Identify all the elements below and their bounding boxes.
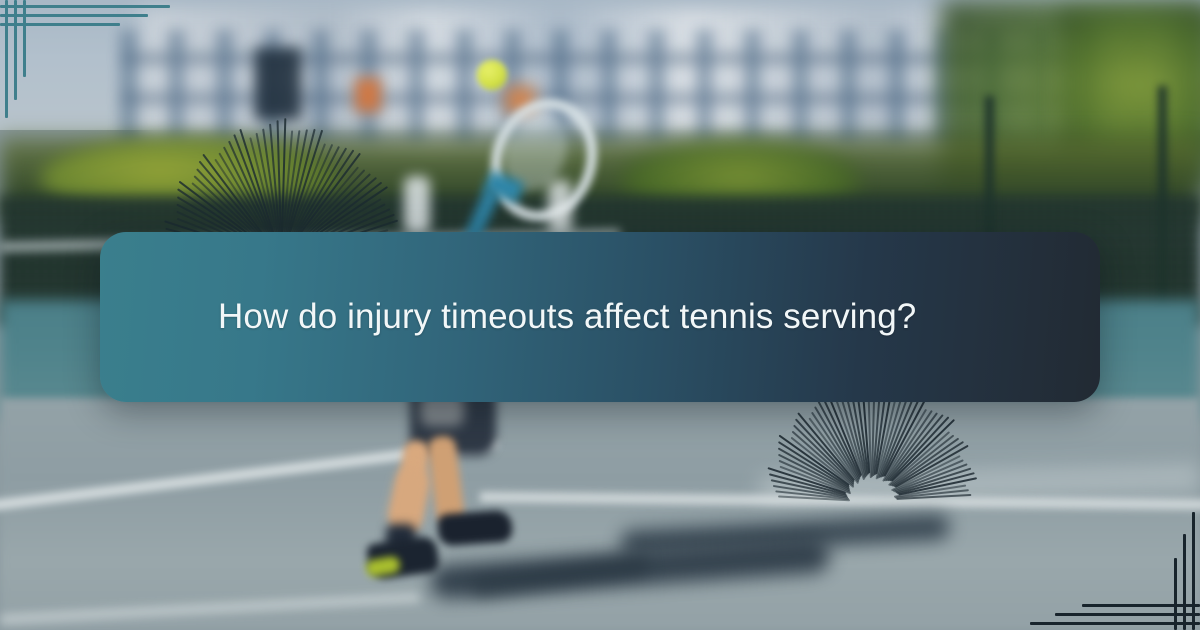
share-card-canvas: How do injury timeouts affect tennis ser… [0, 0, 1200, 630]
bracket-line-vertical [23, 0, 26, 77]
bracket-line-horizontal [1055, 613, 1200, 616]
fence-post [1158, 86, 1167, 326]
player-shoe-front [437, 509, 513, 546]
page-title: How do injury timeouts affect tennis ser… [100, 296, 976, 339]
question-card: How do injury timeouts affect tennis ser… [100, 232, 1100, 402]
orange-balcony-accent [355, 78, 381, 112]
dark-window-accent [255, 48, 301, 120]
bracket-line-horizontal [1082, 604, 1200, 607]
bracket-line-horizontal [0, 23, 120, 26]
bracket-line-vertical [14, 0, 17, 100]
bracket-line-vertical [5, 0, 8, 118]
distant-figure [404, 176, 430, 234]
corner-bracket-top-left [0, 0, 200, 140]
distant-figure [548, 180, 572, 234]
tennis-ball [477, 60, 507, 90]
bracket-line-vertical [1183, 534, 1186, 630]
corner-bracket-bottom-right [1000, 490, 1200, 630]
bracket-line-vertical [1174, 558, 1177, 630]
